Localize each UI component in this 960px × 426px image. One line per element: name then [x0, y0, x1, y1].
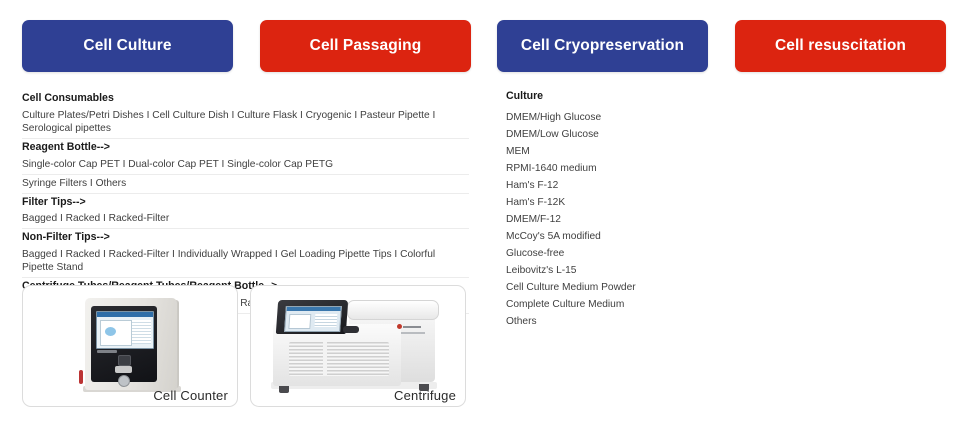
product-card-label: Centrifuge — [394, 388, 456, 403]
list-item: DMEM/Low Glucose — [506, 126, 756, 143]
category-tab-bar: Cell Culture Cell Passaging Cell Cryopre… — [22, 20, 945, 72]
list-section-heading: Reagent Bottle--> — [22, 139, 469, 156]
list-section-heading: Non-Filter Tips--> — [22, 229, 469, 246]
tab-cell-cryopreservation[interactable]: Cell Cryopreservation — [497, 20, 708, 72]
list-item: Glucose-free — [506, 245, 756, 262]
list-item: Culture Plates/Petri Dishes I Cell Cultu… — [22, 107, 469, 140]
list-item: Ham's F-12K — [506, 194, 756, 211]
list-item: DMEM/F-12 — [506, 211, 756, 228]
list-item: Leibovitz's L-15 — [506, 262, 756, 279]
tab-label: Cell Culture — [83, 37, 171, 55]
list-item: DMEM/High Glucose — [506, 109, 756, 126]
list-item: Ham's F-12 — [506, 177, 756, 194]
list-item: Single-color Cap PET I Dual-color Cap PE… — [22, 156, 469, 175]
list-item: McCoy's 5A modified — [506, 228, 756, 245]
tab-cell-culture[interactable]: Cell Culture — [22, 20, 233, 72]
list-item: MEM — [506, 143, 756, 160]
list-section-heading: Culture — [506, 90, 756, 102]
consumables-list: Cell Consumables Culture Plates/Petri Di… — [22, 90, 469, 314]
list-item: Bagged I Racked I Racked-Filter I Indivi… — [22, 246, 469, 279]
list-item: Complete Culture Medium — [506, 296, 756, 313]
product-card-centrifuge[interactable]: Centrifuge — [250, 285, 466, 407]
list-item: Cell Culture Medium Powder — [506, 279, 756, 296]
list-section-heading: Filter Tips--> — [22, 194, 469, 211]
tab-label: Cell Passaging — [310, 37, 422, 55]
tab-cell-resuscitation[interactable]: Cell resuscitation — [735, 20, 946, 72]
list-section-heading: Cell Consumables — [22, 90, 469, 107]
culture-media-list: Culture DMEM/High Glucose DMEM/Low Gluco… — [506, 90, 756, 330]
list-item: Bagged I Racked I Racked-Filter — [22, 210, 469, 229]
tab-cell-passaging[interactable]: Cell Passaging — [260, 20, 471, 72]
list-item: Syringe Filters I Others — [22, 175, 469, 194]
tab-label: Cell resuscitation — [775, 37, 906, 55]
product-card-label: Cell Counter — [153, 388, 228, 403]
list-item: RPMI-1640 medium — [506, 160, 756, 177]
tab-label: Cell Cryopreservation — [521, 37, 684, 55]
product-card-cell-counter[interactable]: Cell Counter — [22, 285, 238, 407]
list-item: Others — [506, 313, 756, 330]
